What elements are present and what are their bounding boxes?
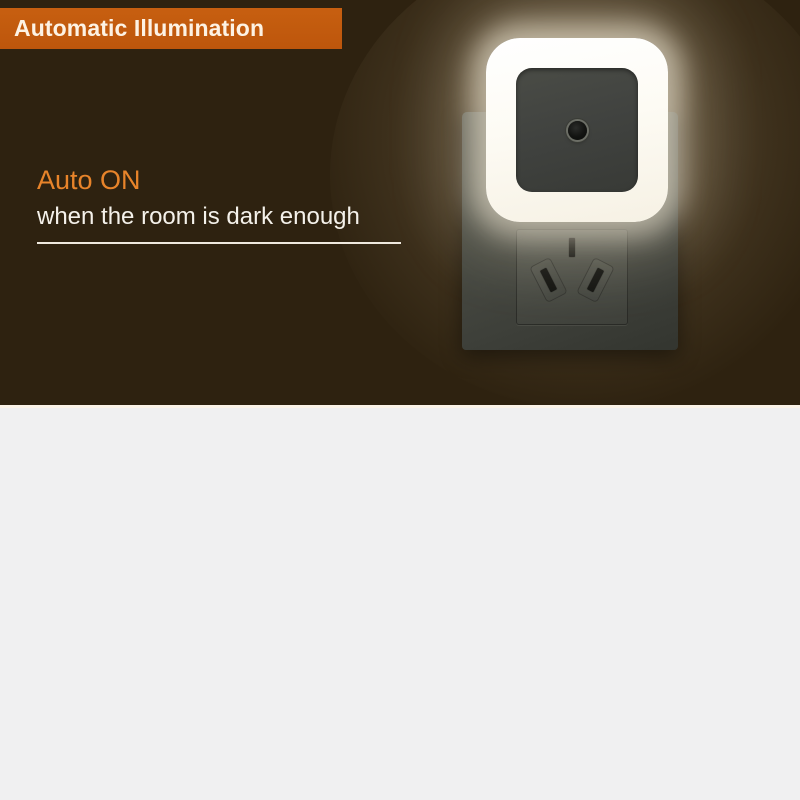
caption-auto-on: Auto ON when the room is dark enough (37, 166, 401, 244)
caption-subtitle: when the room is dark enough (37, 204, 401, 230)
product-feature-image: Automatic Illumination Auto ON when the … (0, 0, 800, 800)
banner-label: Automatic Illumination (0, 15, 264, 42)
panel-auto-off: Auto OFF when the ambient light increase… (0, 408, 800, 800)
night-light-body (486, 38, 668, 222)
night-light-illuminated (448, 38, 692, 350)
wall-socket (516, 229, 628, 325)
night-light-face (516, 68, 638, 192)
caption-title: Auto ON (37, 166, 401, 194)
socket-slot-earth (569, 238, 575, 257)
light-sensor-icon (568, 121, 587, 140)
caption-rule (37, 242, 401, 244)
banner-automatic-illumination: Automatic Illumination (0, 8, 342, 49)
panel-auto-on: Automatic Illumination Auto ON when the … (0, 0, 800, 408)
